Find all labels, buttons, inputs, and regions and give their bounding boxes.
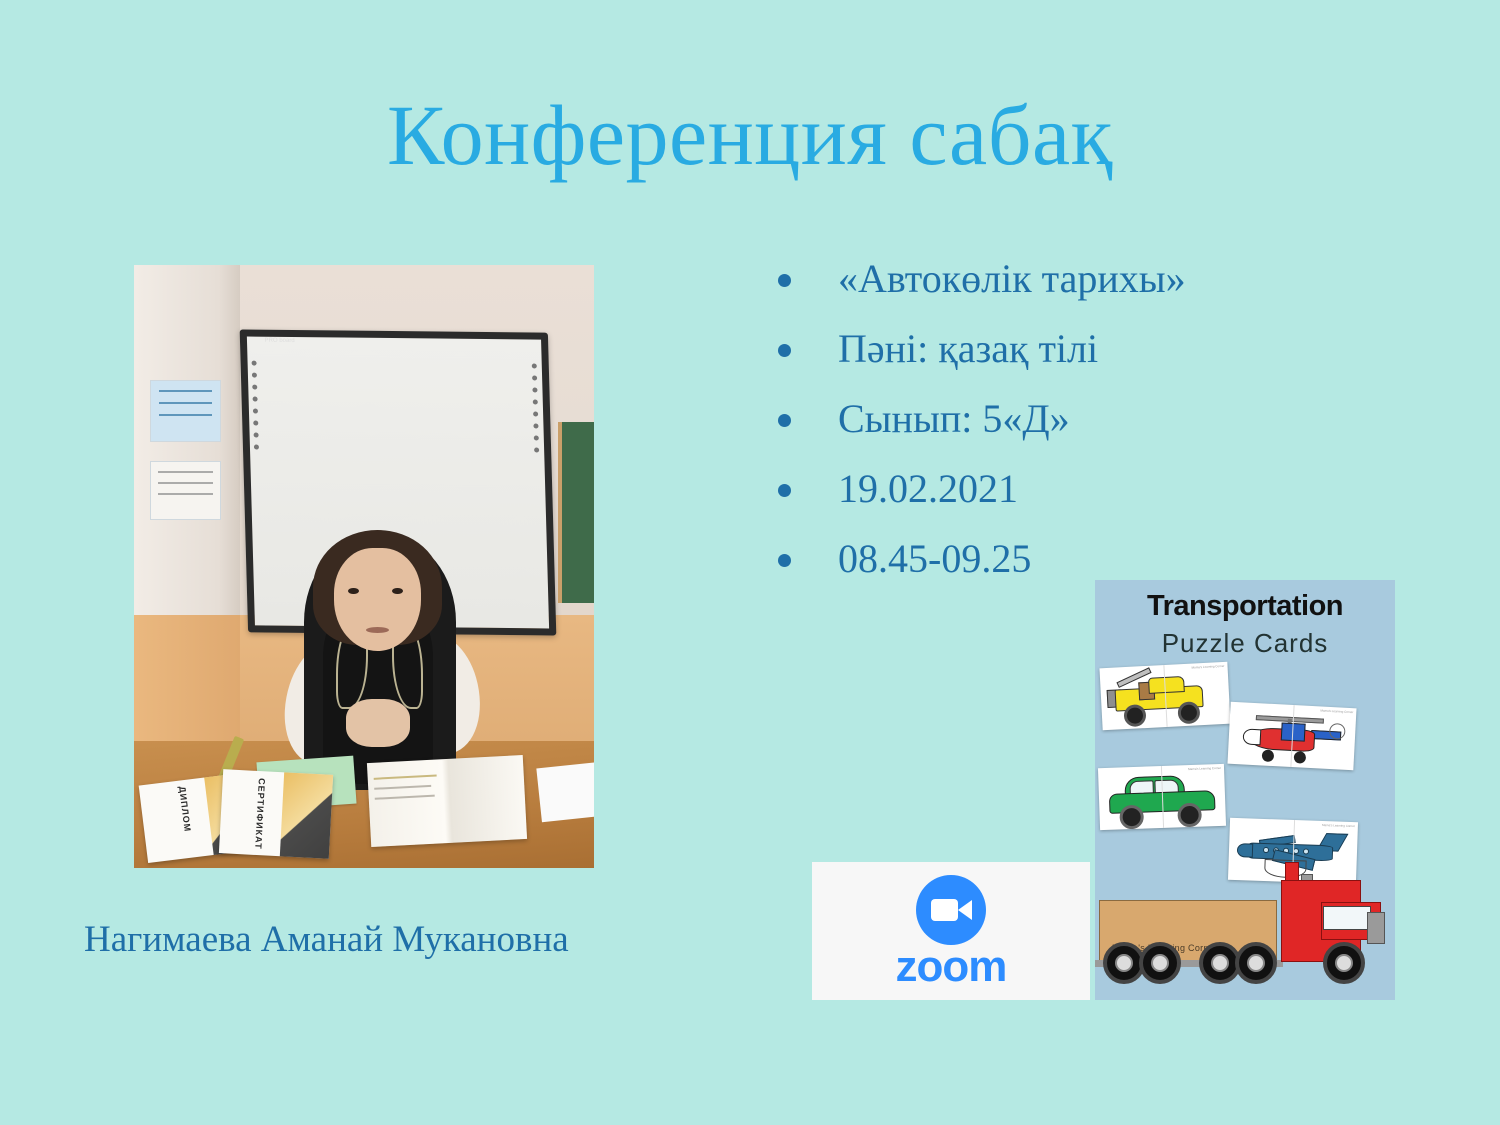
card-watermark: Mama's Learning Corner [1320,708,1353,714]
semi-truck-grille [1367,912,1385,944]
card-watermark: Mama's Learning Corner [1322,823,1355,828]
bullet-list: «Автокөлік тарихы» Пәні: қазақ тілі Сыны… [770,258,1410,608]
photo-wall-poster-blue [150,380,221,442]
card-watermark: Mama's Learning Corner [1192,664,1225,670]
bullet-dot-icon [778,554,791,567]
whiteboard-brand-label: PRO board [265,338,295,344]
poster-title-line2: Puzzle Cards [1095,628,1395,659]
photo-person-eye-right [392,588,403,595]
photo-chalkboard [558,422,594,603]
presentation-slide: Конференция сабақ PRO board [0,0,1500,1125]
photo-person-mouth [366,627,389,633]
list-item: 19.02.2021 [770,468,1410,538]
photo-wall-poster-white [150,461,221,520]
semi-truck-front-wheel [1323,942,1365,984]
car-wheel-front [1119,805,1144,830]
helicopter-wheel-front [1262,749,1275,762]
author-name: Нагимаева Аманай Мукановна [84,918,569,961]
photo-open-book [366,755,527,847]
certificate-title: СЕРТИФИКАТ [254,777,268,849]
photo-certificate: СЕРТИФИКАТ [219,769,334,859]
trailer-wheel-4 [1235,942,1277,984]
helicopter-wheel-rear [1294,751,1307,764]
certificate-gold-band [280,772,334,859]
whiteboard-toolbar-right [532,357,545,612]
helicopter-nose [1242,728,1261,745]
semi-truck-windshield [1323,906,1371,930]
classroom-photo: PRO board ДИПЛОМ [134,265,594,868]
photo-person-face [334,548,421,651]
zoom-camera-lens [958,900,972,920]
puzzle-card-car: Mama's Learning Corner [1098,764,1226,830]
car-wheel-rear [1177,803,1202,828]
helicopter-tail-rotor [1329,723,1346,740]
card-watermark: Mama's Learning Corner [1188,766,1221,771]
bullet-text: 19.02.2021 [838,468,1018,510]
trailer-wheel-2 [1139,942,1181,984]
poster-title-line1: Transportation [1095,590,1395,623]
zoom-wordmark: zoom [896,947,1007,987]
puzzle-card-helicopter: Mama's Learning Corner [1227,702,1356,771]
photo-loose-paper [536,762,594,823]
bullet-text: Сынып: 5«Д» [838,398,1070,440]
tow-truck-cab [1148,676,1185,694]
photo-pillar-lower [134,615,240,742]
bullet-dot-icon [778,484,791,497]
list-item: Пәні: қазақ тілі [770,328,1410,398]
bullet-text: 08.45-09.25 [838,538,1031,580]
diploma-title: ДИПЛОМ [177,786,193,833]
page-title: Конференция сабақ [0,92,1500,178]
zoom-logo-panel: zoom [812,862,1090,1000]
whiteboard-toolbar-left [252,354,265,609]
airplane-nose [1237,843,1253,858]
photo-person-hands [346,699,410,747]
bullet-dot-icon [778,414,791,427]
bullet-text: «Автокөлік тарихы» [838,258,1186,300]
list-item: «Автокөлік тарихы» [770,258,1410,328]
bullet-dot-icon [778,344,791,357]
zoom-camera-body [931,899,958,921]
tow-truck-wheel-front [1123,704,1146,727]
list-item: Сынып: 5«Д» [770,398,1410,468]
bullet-text: Пәні: қазақ тілі [838,328,1098,370]
bullet-dot-icon [778,274,791,287]
puzzle-card-tow-truck: Mama's Learning Corner [1099,662,1230,731]
zoom-camera-icon [916,875,986,945]
transportation-poster: Transportation Puzzle Cards Mama's Learn… [1095,580,1395,1000]
tow-truck-wheel-rear [1177,701,1200,724]
